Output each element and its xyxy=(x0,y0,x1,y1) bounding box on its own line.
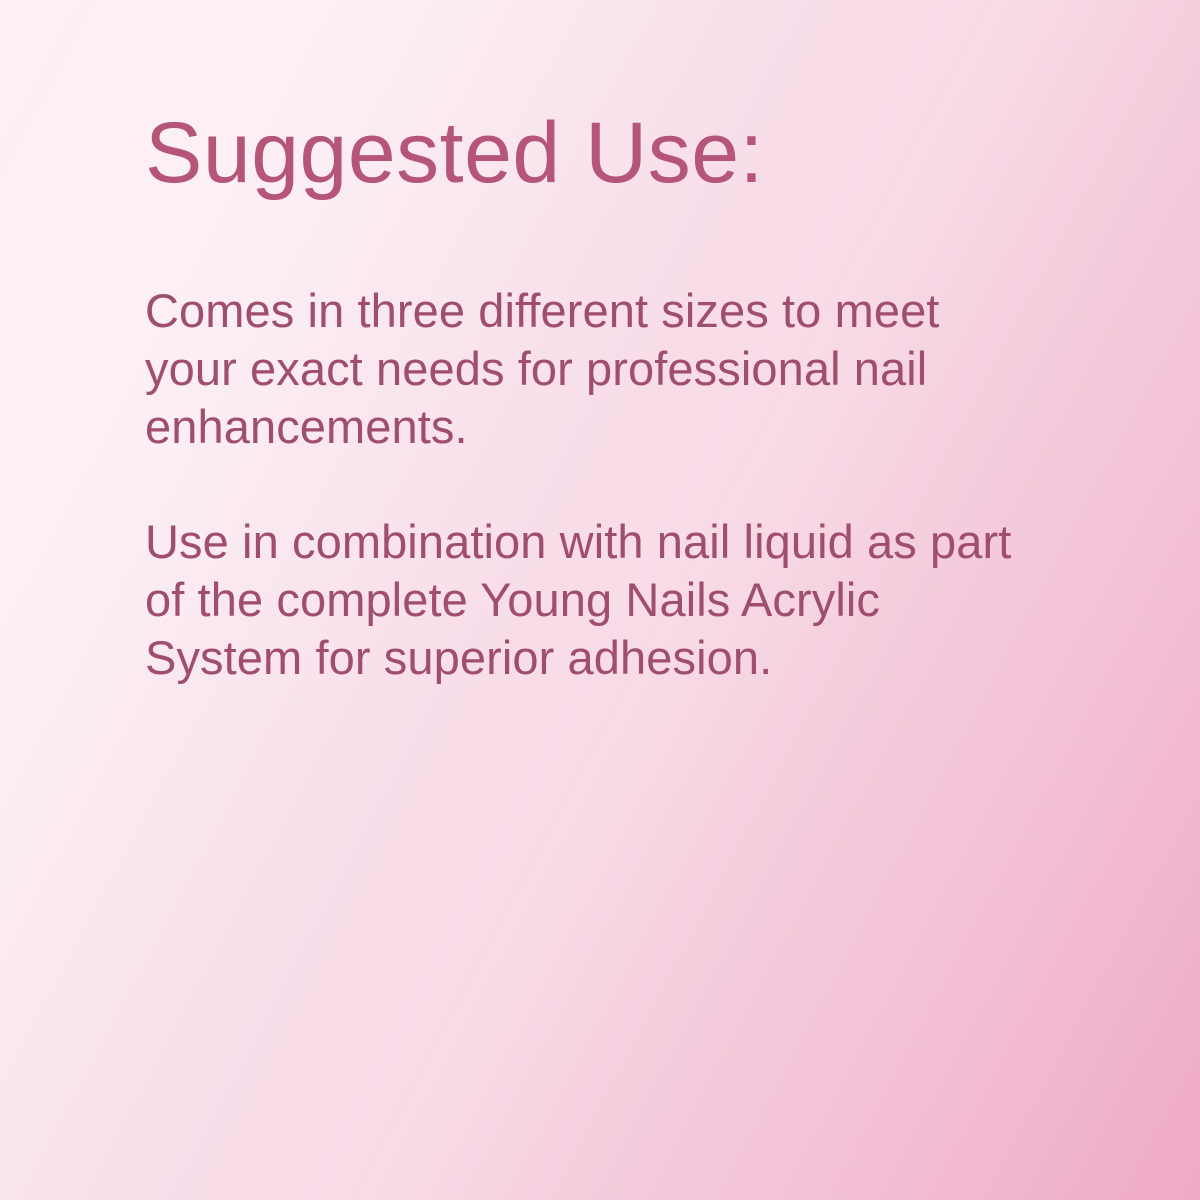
content-container: Suggested Use: Comes in three different … xyxy=(0,0,1200,687)
body-copy: Comes in three different sizes to meet y… xyxy=(145,282,1055,687)
page-title: Suggested Use: xyxy=(145,0,1055,198)
suggested-use-panel: Suggested Use: Comes in three different … xyxy=(0,0,1200,1200)
paragraph-usage: Use in combination with nail liquid as p… xyxy=(145,513,1025,687)
paragraph-sizes: Comes in three different sizes to meet y… xyxy=(145,282,1025,456)
